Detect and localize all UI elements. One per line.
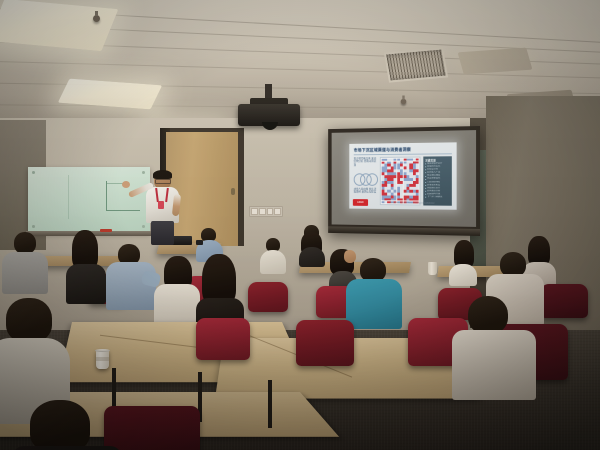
torso: [2, 252, 48, 294]
torso: [12, 446, 122, 450]
head: [344, 250, 356, 263]
wooden-door[interactable]: [166, 132, 238, 246]
slide-sidebar-panel: 关键发现 渠道渗透率提升终端陈列优化价格带分布促销投入产出新品铺货速度竞品份额变…: [423, 156, 452, 205]
hvac-vent-grille: [384, 47, 448, 82]
paper-cup-rim: [95, 349, 110, 352]
presenter-glasses: [155, 179, 171, 184]
slide-sidebar-list: 渠道渗透率提升终端陈列优化价格带分布促销投入产出新品铺货速度竞品份额变化门店动销…: [425, 162, 450, 199]
slide-left-note-top: 重点城市覆盖率 渠道结构分析 终端动销表现: [354, 157, 377, 169]
slide-venn-diagram: [354, 171, 377, 184]
light-switch-plate[interactable]: [249, 206, 283, 217]
light-switch[interactable]: [274, 208, 281, 215]
classroom-scene: 市场下沉区域渠道与消费者洞察 重点城市覆盖率 渠道结构分析 终端动销表现 消费人…: [0, 0, 600, 450]
projected-slide: 市场下沉区域渠道与消费者洞察 重点城市覆盖率 渠道结构分析 终端动销表现 消费人…: [349, 142, 456, 209]
slide-title: 市场下沉区域渠道与消费者洞察: [354, 145, 452, 153]
presenter-trousers: [151, 221, 174, 245]
glass-whiteboard[interactable]: [28, 167, 150, 233]
torso: [66, 264, 106, 304]
torso: [449, 264, 477, 286]
fire-sprinkler-head: [93, 15, 100, 22]
head: [14, 232, 36, 254]
paper-coffee-cup-table[interactable]: [428, 262, 437, 275]
presenter-hand: [122, 181, 130, 188]
chair[interactable]: [104, 406, 200, 450]
slide-title-rule: [354, 153, 452, 155]
fluorescent-panel-light-front-left: [0, 0, 118, 51]
head: [468, 296, 508, 334]
light-switch[interactable]: [251, 208, 258, 215]
light-switch[interactable]: [259, 208, 266, 215]
slide-heatmap-matrix: [380, 157, 421, 206]
chair[interactable]: [540, 284, 588, 318]
chair[interactable]: [248, 282, 288, 312]
torso: [452, 330, 536, 400]
screen-surface: 市场下沉区域渠道与消费者洞察 重点城市覆盖率 渠道结构分析 终端动销表现 消费人…: [332, 130, 476, 227]
torso: [346, 279, 402, 329]
presenter-badge: [158, 201, 164, 209]
door-handle[interactable]: [231, 188, 235, 195]
slide-sidebar-item: 下一步行动建议: [425, 196, 450, 199]
slide-logo: LOGO: [353, 199, 368, 206]
light-switch[interactable]: [267, 208, 274, 215]
presenter-hair: [153, 170, 172, 179]
whiteboard-mark: [106, 181, 107, 211]
whiteboard-mark: [106, 210, 140, 211]
slide-left-note-bottom: 消费人群画像 购买决策路径 品牌认知程度: [354, 188, 377, 200]
whiteboard-marker[interactable]: [100, 229, 112, 232]
torso: [106, 262, 156, 310]
torso: [154, 284, 200, 326]
torso: [260, 250, 286, 274]
paper-cup-band: [96, 357, 109, 361]
torso: [299, 247, 325, 267]
chair[interactable]: [196, 318, 250, 360]
head: [30, 400, 90, 450]
table-leg: [268, 380, 272, 428]
slide-footer: 2018 Annual Market Research Report | Con…: [380, 201, 445, 205]
slide-logo-text: LOGO: [353, 199, 368, 206]
chair[interactable]: [296, 320, 354, 366]
whiteboard-mark: [68, 175, 69, 219]
head: [6, 298, 52, 342]
fire-sprinkler-head-right: [401, 99, 407, 105]
projection-screen: 市场下沉区域渠道与消费者洞察 重点城市覆盖率 渠道结构分析 终端动销表现 消费人…: [328, 126, 480, 236]
presentation-remote[interactable]: [196, 240, 203, 245]
